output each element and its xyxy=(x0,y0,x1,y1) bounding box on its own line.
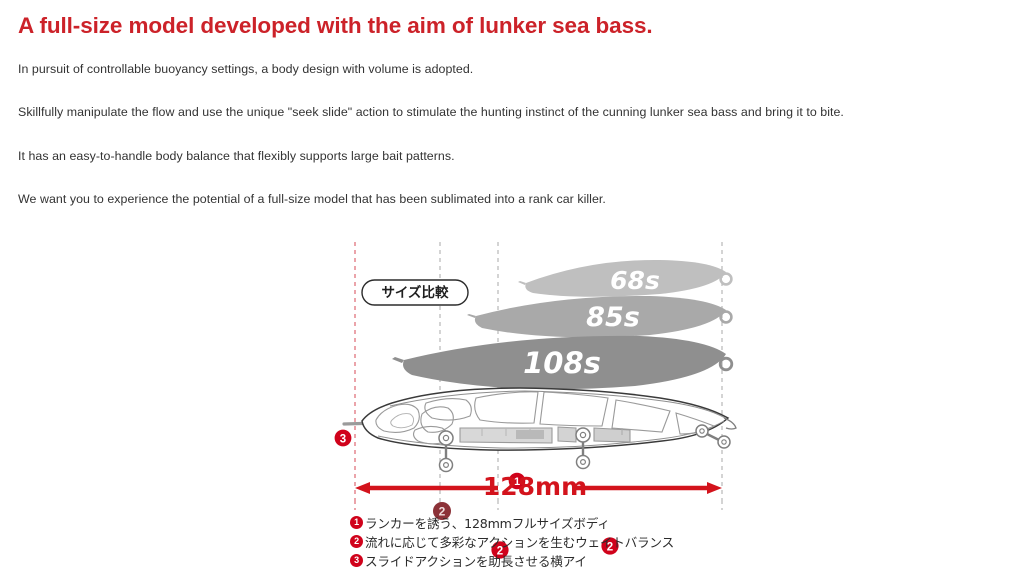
caption-number-icon: 3 xyxy=(350,554,363,567)
silhouette-68s: 68s xyxy=(518,260,731,297)
main-lure-108s-lineart xyxy=(344,388,736,472)
size-compare-label: サイズ比較 xyxy=(381,284,449,301)
page-title: A full-size model developed with the aim… xyxy=(18,12,1008,39)
caption-text: 流れに応じて多彩なアクションを生むウェイトバランス xyxy=(365,532,674,551)
body-paragraph-3: It has an easy-to-handle body balance th… xyxy=(18,148,1008,165)
caption-row: 2 流れに応じて多彩なアクションを生むウェイトバランス xyxy=(350,532,770,551)
dimension-arrow-128mm: 128mm xyxy=(355,472,722,501)
caption-number-icon: 1 xyxy=(350,516,363,529)
body-paragraph-4: We want you to experience the potential … xyxy=(18,191,1008,208)
caption-row: 1 ランカーを誘う、128mmフルサイズボディ xyxy=(350,513,770,532)
callout-marker-3-label: 3 xyxy=(340,434,346,446)
silhouette-85s: 85s xyxy=(467,296,731,337)
caption-number-icon: 2 xyxy=(350,535,363,548)
silhouette-label-108s: 108s xyxy=(523,346,601,380)
caption-text: ランカーを誘う、128mmフルサイズボディ xyxy=(365,513,610,532)
callout-marker-3: 3 xyxy=(335,430,352,447)
dimension-label: 128mm xyxy=(483,472,587,501)
size-compare-badge: サイズ比較 xyxy=(362,280,468,305)
article-text-block: A full-size model developed with the aim… xyxy=(18,12,1008,234)
silhouette-label-85s: 85s xyxy=(586,302,640,333)
body-paragraph-2: Skillfully manipulate the flow and use t… xyxy=(18,104,1008,121)
body-paragraph-1: In pursuit of controllable buoyancy sett… xyxy=(18,61,1008,78)
silhouette-label-68s: 68s xyxy=(610,266,660,295)
silhouette-108s: 108s xyxy=(392,336,732,389)
caption-row: 3 スライドアクションを助長させる横アイ xyxy=(350,551,770,570)
feature-caption-list: 1 ランカーを誘う、128mmフルサイズボディ 2 流れに応じて多彩なアクション… xyxy=(350,513,770,570)
caption-text: スライドアクションを助長させる横アイ xyxy=(365,551,587,570)
